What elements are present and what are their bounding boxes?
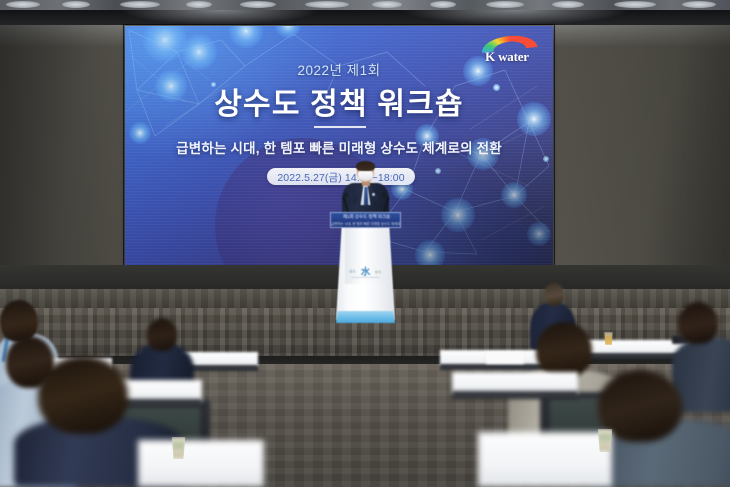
podium: 水 물로 행복 제1회 상수도 정책 워크숍 급변하는 시대, 한 템포 빠른 … <box>332 212 399 324</box>
table-row <box>138 440 264 487</box>
audience-head <box>38 356 128 434</box>
conference-photo: 2022년 제1회 상수도 정책 워크숍 급변하는 시대, 한 템포 빠른 미래… <box>0 0 730 487</box>
table-edge <box>452 391 578 399</box>
audience-head <box>536 322 592 378</box>
ceiling-spotlights <box>0 0 730 10</box>
ceiling-light-glow <box>400 10 630 25</box>
wall-shadow-left <box>0 25 130 293</box>
svg-text:물로: 물로 <box>349 269 356 274</box>
audience-head <box>544 283 564 306</box>
svg-text:水: 水 <box>361 266 371 278</box>
wall-shadow-right <box>545 25 730 293</box>
podium-banner: 제1회 상수도 정책 워크숍 급변하는 시대, 한 템포 빠른 미래형 상수도 … <box>330 212 401 228</box>
podium-base <box>336 311 395 323</box>
microphone-head-right <box>382 193 386 197</box>
microphone-head-left <box>344 193 348 197</box>
podium-banner-title: 제1회 상수도 정책 워크숍 <box>331 214 401 220</box>
face-mask-icon <box>358 171 373 181</box>
svg-text:행복: 행복 <box>375 270 382 275</box>
table-row <box>478 432 612 487</box>
audience-head <box>147 318 177 351</box>
water-character-logo-icon: 水 물로 행복 <box>346 264 385 280</box>
audience-head <box>678 302 718 344</box>
podium-banner-subtitle: 급변하는 시대, 한 템포 빠른 미래형 상수도 체계로의 전환 <box>331 222 401 227</box>
ceiling-light-glow <box>120 10 320 25</box>
speaker-lapel-pin <box>372 193 375 196</box>
speaker-hair <box>356 161 375 171</box>
